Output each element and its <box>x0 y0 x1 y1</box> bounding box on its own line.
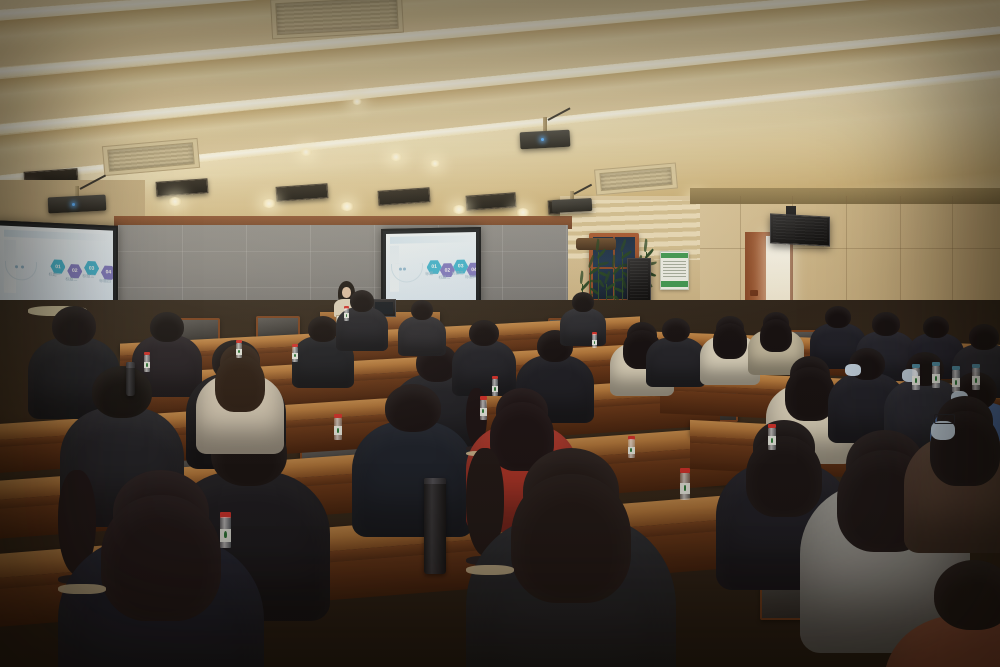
thermos-lid <box>424 478 446 484</box>
thermos-lid <box>126 362 135 368</box>
thermos-flask[interactable] <box>424 478 446 574</box>
thermos-flask[interactable] <box>126 362 135 396</box>
conference-room-photo: 01标题一02标题二03标题三04标题四01标题一02标题二03标题三04标题四 <box>0 0 1000 667</box>
thermos-flasks <box>0 0 1000 667</box>
